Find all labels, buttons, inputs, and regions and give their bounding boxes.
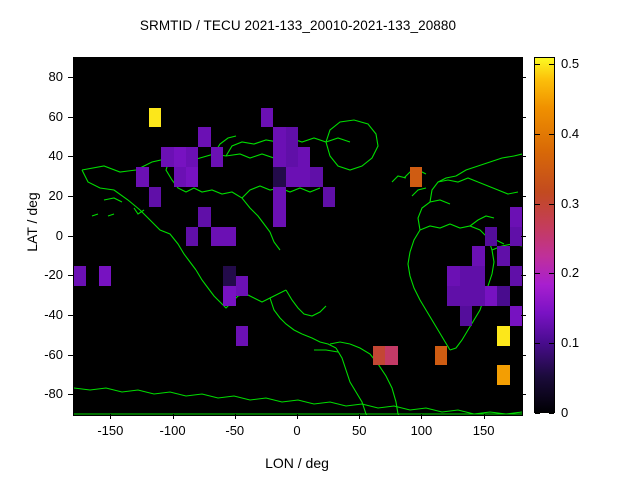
heatmap-cell	[497, 365, 509, 385]
y-tick-label: -60	[17, 347, 63, 362]
colorbar-tick-mark	[535, 64, 540, 65]
y-tick-mark	[68, 355, 73, 356]
colorbar-tick-mark	[535, 343, 540, 344]
colorbar-tick-mark	[549, 273, 554, 274]
heatmap-cell	[149, 187, 161, 207]
y-tick-mark-right	[521, 355, 526, 356]
heatmap-cell	[298, 147, 310, 167]
heatmap-cell	[472, 266, 484, 286]
heatmap-cell	[385, 346, 397, 366]
colorbar-tick-label: 0.1	[561, 335, 579, 350]
heatmap-cell	[286, 127, 298, 147]
heatmap-cell	[273, 207, 285, 227]
colorbar-tick-mark	[549, 204, 554, 205]
x-tick-mark-top	[484, 57, 485, 62]
x-tick-label: -150	[80, 423, 140, 438]
x-tick-mark-top	[235, 57, 236, 62]
x-tick-mark	[297, 414, 298, 419]
heatmap-cell	[373, 346, 385, 366]
heatmap-cell	[211, 227, 223, 247]
colorbar-tick-mark	[535, 413, 540, 414]
plot-area[interactable]	[73, 57, 523, 416]
y-tick-label: 60	[17, 109, 63, 124]
y-tick-label: -40	[17, 307, 63, 322]
colorbar-tick-label: 0	[561, 405, 568, 420]
heatmap-cell	[236, 326, 248, 346]
figure-root: SRMTID / TECU 2021-133_20010-2021-133_20…	[0, 0, 640, 480]
heatmap-cell	[286, 167, 298, 187]
heatmap-cell	[186, 147, 198, 167]
heatmap-cell	[174, 147, 186, 167]
heatmap-cell	[472, 286, 484, 306]
heatmap-cell	[323, 187, 335, 207]
heatmap-cell	[198, 207, 210, 227]
heatmap-cell	[186, 227, 198, 247]
x-tick-label: 50	[329, 423, 389, 438]
heatmap-cell	[261, 108, 273, 128]
x-tick-mark	[173, 414, 174, 419]
y-tick-mark	[68, 275, 73, 276]
heatmap-cell	[298, 167, 310, 187]
y-tick-label: 40	[17, 148, 63, 163]
y-tick-mark	[68, 236, 73, 237]
heatmap-cell	[198, 127, 210, 147]
heatmap-cell	[497, 246, 509, 266]
heatmap-cell	[472, 246, 484, 266]
x-tick-label: -100	[143, 423, 203, 438]
heatmap-cell	[136, 167, 148, 187]
heatmap-cell	[273, 147, 285, 167]
colorbar-tick-label: 0.3	[561, 196, 579, 211]
heatmap-cell	[485, 227, 497, 247]
x-tick-label: 150	[454, 423, 514, 438]
heatmap-cell	[485, 286, 497, 306]
colorbar-tick-mark	[549, 134, 554, 135]
heatmap-cell	[236, 276, 248, 296]
colorbar-gradient	[535, 58, 554, 412]
heatmap-cell	[497, 326, 509, 346]
heatmap-cell	[497, 286, 509, 306]
y-tick-mark	[68, 315, 73, 316]
heatmap-cell	[161, 147, 173, 167]
y-tick-mark-right	[521, 315, 526, 316]
heatmap-cell	[273, 167, 285, 187]
colorbar-tick-mark	[535, 134, 540, 135]
x-tick-label: -50	[205, 423, 265, 438]
x-tick-mark	[110, 414, 111, 419]
y-tick-mark	[68, 117, 73, 118]
y-tick-label: 80	[17, 69, 63, 84]
plot-inner	[74, 58, 522, 415]
colorbar-tick-mark	[549, 64, 554, 65]
y-tick-mark-right	[521, 156, 526, 157]
heatmap-cell	[273, 127, 285, 147]
heatmap-cell	[99, 266, 111, 286]
x-tick-mark-top	[297, 57, 298, 62]
y-tick-mark	[68, 156, 73, 157]
heatmap-cell	[211, 147, 223, 167]
y-tick-mark-right	[521, 77, 526, 78]
x-tick-mark-top	[110, 57, 111, 62]
colorbar[interactable]	[534, 57, 555, 413]
y-tick-label: -20	[17, 267, 63, 282]
colorbar-tick-label: 0.4	[561, 126, 579, 141]
heatmap-cell	[149, 108, 161, 128]
colorbar-tick-mark	[549, 413, 554, 414]
chart-title: SRMTID / TECU 2021-133_20010-2021-133_20…	[0, 18, 596, 33]
colorbar-tick-label: 0.2	[561, 265, 579, 280]
x-tick-mark-top	[359, 57, 360, 62]
x-tick-mark	[235, 414, 236, 419]
heatmap-cell	[410, 167, 422, 187]
heatmap-cell	[286, 147, 298, 167]
x-tick-mark-top	[173, 57, 174, 62]
colorbar-tick-mark	[549, 343, 554, 344]
heatmap-cell	[447, 266, 459, 286]
heatmap-cell	[460, 306, 472, 326]
heatmap-cell	[510, 207, 522, 227]
heatmap-cell	[174, 167, 186, 187]
heatmap-cell	[74, 266, 86, 286]
heatmap-cell	[223, 286, 235, 306]
heatmap-cell	[223, 227, 235, 247]
heatmap-cell	[310, 167, 322, 187]
heatmap-cell	[447, 286, 459, 306]
heatmap-cells	[74, 58, 522, 415]
heatmap-cell	[460, 286, 472, 306]
y-tick-mark-right	[521, 394, 526, 395]
heatmap-cell	[186, 167, 198, 187]
heatmap-cell	[273, 187, 285, 207]
y-tick-mark	[68, 77, 73, 78]
heatmap-cell	[510, 266, 522, 286]
x-tick-label: 0	[267, 423, 327, 438]
y-tick-mark-right	[521, 236, 526, 237]
y-tick-mark-right	[521, 117, 526, 118]
x-tick-mark	[484, 414, 485, 419]
y-tick-mark	[68, 394, 73, 395]
y-tick-label: -80	[17, 386, 63, 401]
heatmap-cell	[435, 346, 447, 366]
x-tick-label: 100	[391, 423, 451, 438]
x-tick-mark-top	[421, 57, 422, 62]
y-tick-mark-right	[521, 275, 526, 276]
y-tick-label: 20	[17, 188, 63, 203]
y-tick-mark	[68, 196, 73, 197]
heatmap-cell	[460, 266, 472, 286]
y-tick-mark-right	[521, 196, 526, 197]
heatmap-cell	[223, 266, 235, 286]
colorbar-tick-mark	[535, 273, 540, 274]
colorbar-tick-label: 0.5	[561, 56, 579, 71]
x-tick-mark	[421, 414, 422, 419]
x-axis-title: LON / deg	[73, 455, 521, 471]
y-tick-label: 0	[17, 228, 63, 243]
colorbar-tick-mark	[535, 204, 540, 205]
x-tick-mark	[359, 414, 360, 419]
